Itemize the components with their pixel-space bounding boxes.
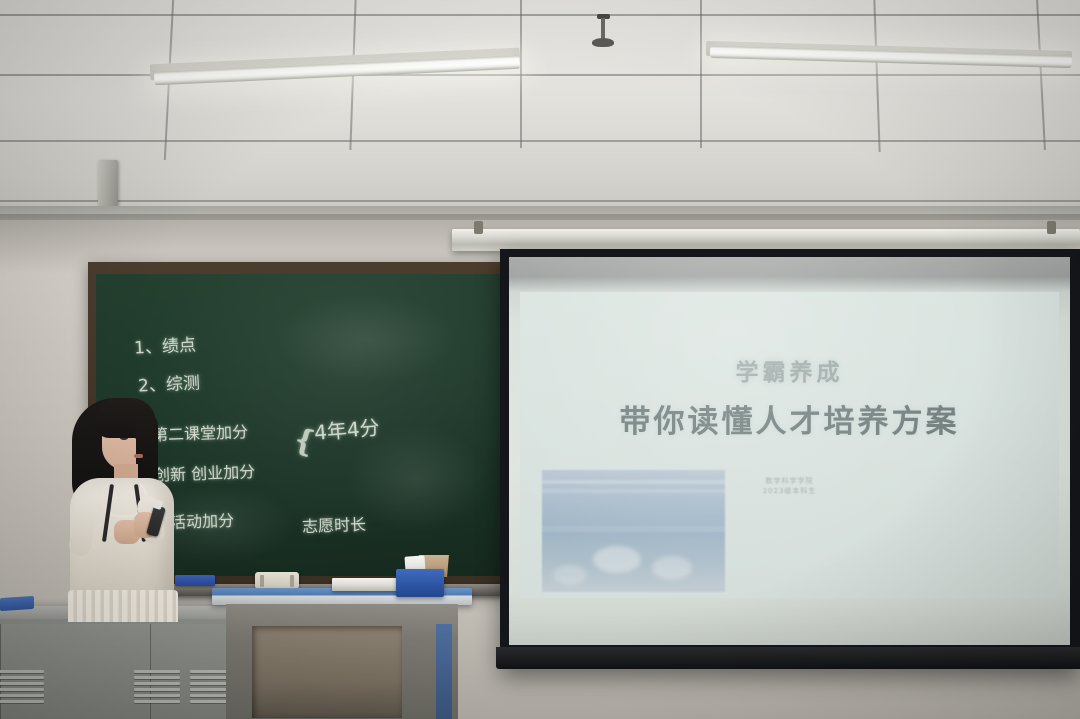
board-eraser-icon (255, 572, 299, 589)
desk-body (226, 604, 458, 719)
cabinet-vent-mid-icon (134, 670, 180, 710)
sprinkler-head-icon (592, 38, 614, 47)
chalk-line-7: 志愿时长 (302, 511, 367, 537)
screen-bracket-left-icon (474, 221, 483, 234)
chalk-bracket-icon: ❴ (288, 421, 321, 461)
ceiling (0, 0, 1080, 222)
screen-weight-bar (496, 647, 1080, 669)
projector-screen: 学霸养成 带你读懂人才培养方案 数学科学学院 2023级本科生 (500, 249, 1080, 669)
chalk-line-1: 1、绩点 (133, 330, 196, 358)
classroom-scene: 1、绩点 2、综测 第二课堂加分 4年4分 创新 创业加分 活动加分 志愿时长 … (0, 0, 1080, 719)
blue-tray-icon (0, 596, 34, 611)
book-stack-icon (332, 578, 398, 591)
presenter (58, 392, 186, 622)
hair-side (136, 414, 158, 488)
slide-title: 带你读懂人才培养方案 (520, 396, 1059, 441)
screen-bracket-right-icon (1047, 221, 1056, 234)
projection-surface: 学霸养成 带你读懂人才培养方案 数学科学学院 2023级本科生 (509, 257, 1070, 645)
slide-photo (542, 470, 725, 593)
lectern-desk (212, 588, 472, 719)
projector-screen-housing (452, 229, 1080, 251)
desk-cubby (252, 626, 402, 718)
skirt (68, 590, 178, 622)
sprinkler-stem-icon (601, 18, 605, 40)
chalk-line-4: 4年4分 (313, 411, 381, 446)
presentation-slide: 学霸养成 带你读懂人才培养方案 数学科学学院 2023级本科生 (520, 292, 1059, 599)
tissue-box-icon (396, 569, 444, 597)
desk-side-panel (436, 624, 452, 719)
ceiling-speaker-box-icon (98, 160, 118, 212)
mouth (134, 454, 143, 458)
cabinet-vent-left-icon (0, 670, 44, 710)
slide-subtitle: 学霸养成 (520, 353, 1059, 387)
